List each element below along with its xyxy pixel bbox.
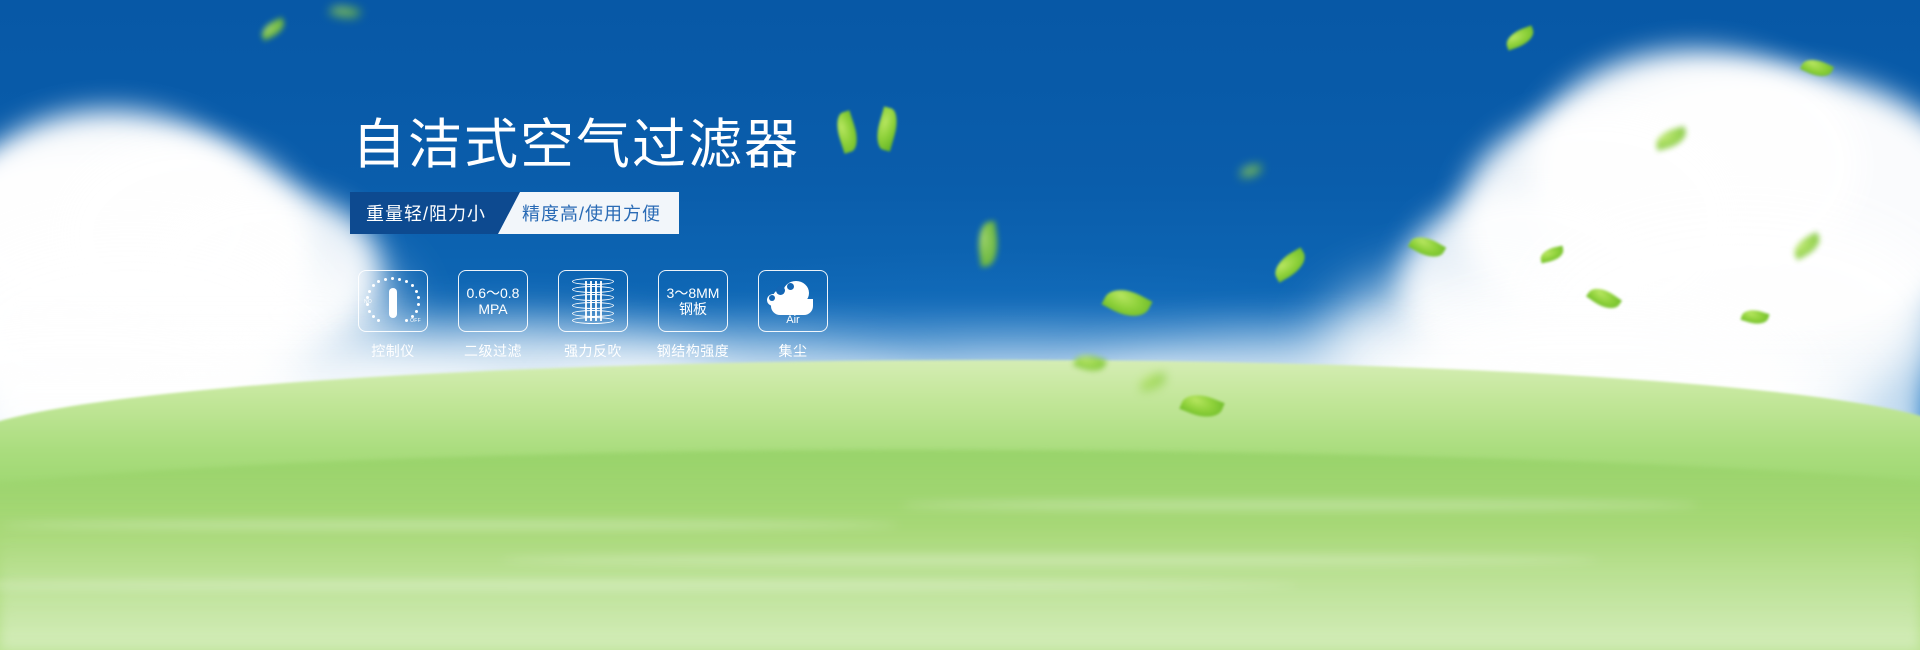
feature-item-steel-strength[interactable]: 3～8MM 钢板 钢结构强度 (658, 270, 728, 361)
product-hero-banner: 自洁式空气过滤器 重量轻/阻力小 精度高/使用方便 (0, 0, 1920, 650)
feature-label: 控制仪 (371, 341, 415, 361)
pressure-value: 0.6～0.8 (467, 285, 520, 301)
page-title: 自洁式空气过滤器 (352, 118, 800, 172)
feature-item-two-stage-filter[interactable]: 0.6～0.8 MPA 二级过滤 (458, 270, 528, 361)
tab-precision-convenience[interactable]: 精度高/使用方便 (498, 192, 679, 234)
feature-item-back-blow[interactable]: 强力反吹 (558, 270, 628, 361)
pressure-unit: MPA (467, 301, 520, 317)
coil-filter-icon (572, 278, 614, 324)
feature-label: 集尘 (779, 341, 808, 361)
gauge-needle (389, 288, 397, 318)
feature-icon-box: 3～8MM 钢板 (658, 270, 728, 332)
feature-icon-box: Air (758, 270, 828, 332)
steel-plate-text-icon: 3～8MM 钢板 (667, 285, 720, 317)
banner-content: 自洁式空气过滤器 重量轻/阻力小 精度高/使用方便 (0, 0, 1920, 650)
feature-item-controller[interactable]: NO OFF 控制仪 (358, 270, 428, 361)
feature-label: 钢结构强度 (657, 341, 730, 361)
steel-thickness: 3～8MM (667, 285, 720, 301)
gauge-on-label: NO (364, 299, 372, 305)
air-label: Air (767, 314, 819, 326)
feature-icon-row: NO OFF 控制仪 0.6～0.8 MPA 二级过滤 (358, 270, 828, 361)
feature-label: 二级过滤 (464, 341, 522, 361)
feature-label: 强力反吹 (564, 341, 622, 361)
pressure-text-icon: 0.6～0.8 MPA (467, 285, 520, 317)
cloud-air-icon: Air (767, 279, 819, 323)
feature-item-dust-collection[interactable]: Air 集尘 (758, 270, 828, 361)
feature-icon-box (558, 270, 628, 332)
feature-tab-group: 重量轻/阻力小 精度高/使用方便 (350, 192, 679, 234)
gauge-off-label: OFF (410, 318, 421, 324)
gauge-dial-icon: NO OFF (365, 276, 421, 326)
feature-icon-box: NO OFF (358, 270, 428, 332)
steel-material: 钢板 (667, 301, 720, 317)
feature-icon-box: 0.6～0.8 MPA (458, 270, 528, 332)
tab-weight-resistance[interactable]: 重量轻/阻力小 (350, 192, 520, 234)
